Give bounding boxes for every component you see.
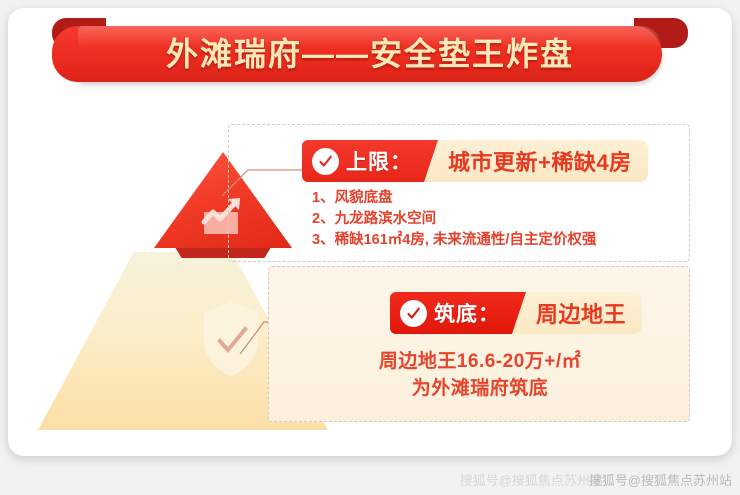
watermark-ghost-text: 搜狐号@搜狐焦点苏州站 [460,470,603,489]
foundation-headline-chip: 周边地王 [512,292,642,334]
foundation-tag-label: 筑底： [434,298,500,328]
list-item: 1、风貌底盘 [312,188,672,209]
foundation-detail-text: 周边地王16.6-20万+/㎡ 为外滩瑞府筑底 [300,348,660,402]
title-banner: 外滩瑞府——安全垫王炸盘 [52,18,688,86]
upper-limit-tag-label: 上限： [346,146,412,176]
foundation-headline: 周边地王 [536,297,626,329]
foundation-detail-line: 为外滩瑞府筑底 [300,375,660,402]
list-item: 2、九龙路滨水空间 [312,209,672,230]
watermark: 搜狐号@搜狐焦点苏州站 搜狐号@搜狐焦点苏州站 [460,470,732,489]
upper-limit-headline-chip: 城市更新+稀缺4房 [424,140,648,182]
shield-check-icon [200,300,262,378]
watermark-text: 搜狐号@搜狐焦点苏州站 [589,470,732,489]
check-circle-icon [312,148,339,175]
upper-limit-headline: 城市更新+稀缺4房 [448,145,632,177]
upper-limit-tag: 上限： [302,140,438,182]
check-circle-icon [400,300,427,327]
foundation-tag: 筑底： [390,292,526,334]
upper-limit-tag-row: 上限： 城市更新+稀缺4房 [302,140,648,182]
slide-root: 外滩瑞府——安全垫王炸盘 [0,0,740,495]
upper-limit-bullet-list: 1、风貌底盘 2、九龙路滨水空间 3、稀缺161㎡4房, 未来流通性/自主定价权… [312,188,672,251]
list-item: 3、稀缺161㎡4房, 未来流通性/自主定价权强 [312,230,672,251]
page-title: 外滩瑞府——安全垫王炸盘 [52,18,688,86]
foundation-tag-row: 筑底： 周边地王 [390,292,642,334]
foundation-detail-line: 周边地王16.6-20万+/㎡ [300,348,660,375]
